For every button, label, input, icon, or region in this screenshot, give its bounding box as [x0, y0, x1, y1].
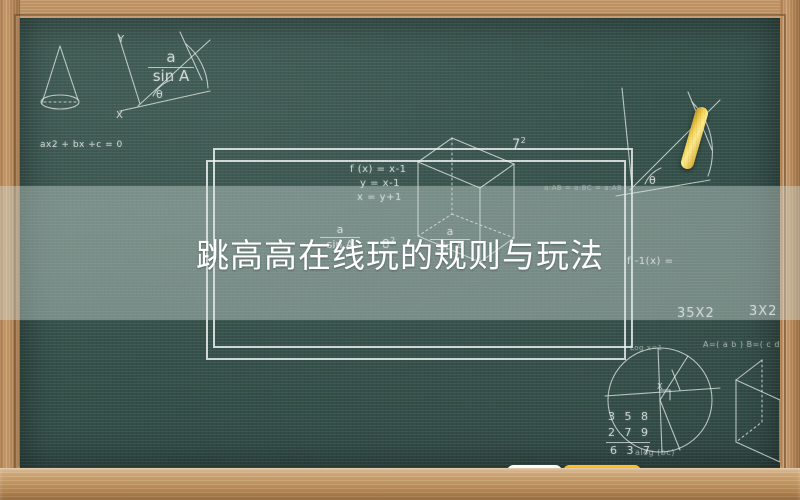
axis-label-x-bottomright: X [657, 382, 663, 391]
matrix-note: A=( a b ) B=( c d ) I=( 1 0 ) [703, 340, 780, 349]
yellow-chalk-stick-icon [679, 105, 709, 170]
quadratic-equation: ax2 + bx +c = 0 [40, 140, 123, 150]
multiply-note-2: 3X2 [749, 304, 777, 319]
addition-row-1: 3 5 8 [608, 410, 651, 423]
chalkboard-poster: a sin A Y X θ ax2 + bx +c = 0 θ f (x) = … [0, 0, 800, 500]
axis-label-y-topleft: Y [118, 34, 125, 45]
multiply-note-1: 35X2 [677, 306, 715, 321]
function-line-2: y = x-1 [360, 178, 400, 189]
page-title: 跳高高在线玩的规则与玩法 [0, 229, 800, 277]
function-line-1: f (x) = x-1 [350, 164, 407, 175]
exponent-seven-sup: 2 [521, 136, 527, 145]
log-note: Log x=1 [630, 344, 663, 352]
addition-sum: 6 3 7 [610, 444, 653, 457]
wooden-shelf [0, 468, 800, 500]
angle-label-topleft: θ [156, 88, 163, 101]
log-bc-note: alog (bc) [635, 448, 675, 457]
addition-row-2: 2 7 9 [608, 426, 651, 439]
ratio-note: a:AB = a:BC = a:AB [544, 184, 622, 192]
axis-label-x-topleft: X [116, 110, 123, 121]
fraction-a-over-sina-topleft: a sin A [148, 50, 194, 85]
exponent-seven: 72 [512, 136, 526, 152]
angle-label-topright: θ [649, 174, 656, 187]
function-line-3: x = y+1 [357, 192, 402, 203]
addition-rule-line [606, 442, 650, 443]
